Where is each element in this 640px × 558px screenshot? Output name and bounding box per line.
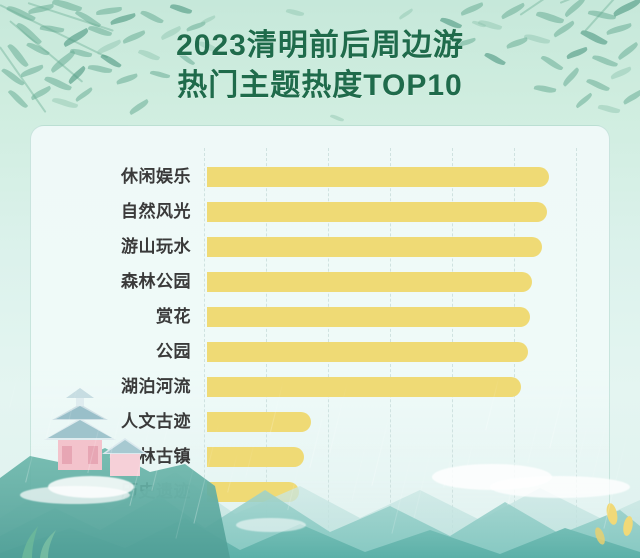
bar-label: 公园: [31, 342, 191, 362]
bar-label: 湖泊河流: [31, 377, 191, 397]
bamboo-leaf-icon: [500, 3, 526, 20]
bar: [207, 167, 549, 187]
bamboo-leaf-icon: [140, 8, 164, 25]
bamboo-leaf-icon: [96, 7, 122, 15]
bar-row: 自然风光: [31, 202, 609, 237]
bar-row: 休闲娱乐: [31, 167, 609, 202]
bar: [207, 412, 311, 432]
bar: [207, 272, 532, 292]
infographic-canvas: 2023清明前后周边游 热门主题热度TOP10 休闲娱乐自然风光游山玩水森林公园…: [0, 0, 640, 558]
chart-card: 休闲娱乐自然风光游山玩水森林公园赏花公园湖泊河流人文古迹园林古镇历史遗迹: [30, 125, 610, 558]
bamboo-leaf-icon: [536, 9, 565, 26]
bamboo-leaf-icon: [170, 2, 193, 16]
bar-row: 赏花: [31, 307, 609, 342]
bar-row: 湖泊河流: [31, 377, 609, 412]
bamboo-leaf-icon: [52, 0, 83, 14]
bamboo-leaf-icon: [330, 113, 344, 123]
bar-label: 人文古迹: [31, 412, 191, 432]
bar: [207, 237, 542, 257]
bar-row: 游山玩水: [31, 237, 609, 272]
bamboo-leaf-icon: [460, 2, 485, 16]
bar-label: 森林公园: [31, 272, 191, 292]
bamboo-leaf-icon: [6, 3, 36, 23]
bar-label: 赏花: [31, 307, 191, 327]
bamboo-leaf-icon: [200, 15, 216, 25]
bar-label: 游山玩水: [31, 237, 191, 257]
bar-label: 历史遗迹: [31, 482, 191, 502]
bar-label: 休闲娱乐: [31, 167, 191, 187]
page-title: 2023清明前后周边游 热门主题热度TOP10: [0, 26, 640, 106]
bar: [207, 447, 304, 467]
bamboo-stem: [560, 0, 640, 3]
title-line-1: 2023清明前后周边游: [0, 26, 640, 66]
title-line-2: 热门主题热度TOP10: [0, 66, 640, 106]
bamboo-stem: [520, 0, 612, 15]
bar-row: 森林公园: [31, 272, 609, 307]
bar-label: 自然风光: [31, 202, 191, 222]
bar-label: 园林古镇: [31, 447, 191, 467]
bar-row: 公园: [31, 342, 609, 377]
bar-row: 历史遗迹: [31, 482, 609, 517]
bar: [207, 342, 528, 362]
bar-row: 人文古迹: [31, 412, 609, 447]
bar: [207, 482, 299, 502]
bamboo-leaf-icon: [286, 7, 305, 17]
bamboo-leaf-icon: [28, 4, 55, 14]
bar: [207, 377, 521, 397]
bamboo-leaf-icon: [612, 0, 640, 17]
rain-streak: [9, 368, 20, 407]
bamboo-leaf-icon: [563, 0, 587, 17]
bar-row: 园林古镇: [31, 447, 609, 482]
bar: [207, 307, 530, 327]
bamboo-leaf-icon: [588, 8, 617, 21]
bamboo-leaf-icon: [398, 8, 414, 19]
bar-chart-plot: 休闲娱乐自然风光游山玩水森林公园赏花公园湖泊河流人文古迹园林古镇历史遗迹: [31, 126, 609, 558]
bamboo-leaf-icon: [110, 13, 137, 25]
bar: [207, 202, 547, 222]
bar-rows: 休闲娱乐自然风光游山玩水森林公园赏花公园湖泊河流人文古迹园林古镇历史遗迹: [31, 167, 609, 517]
